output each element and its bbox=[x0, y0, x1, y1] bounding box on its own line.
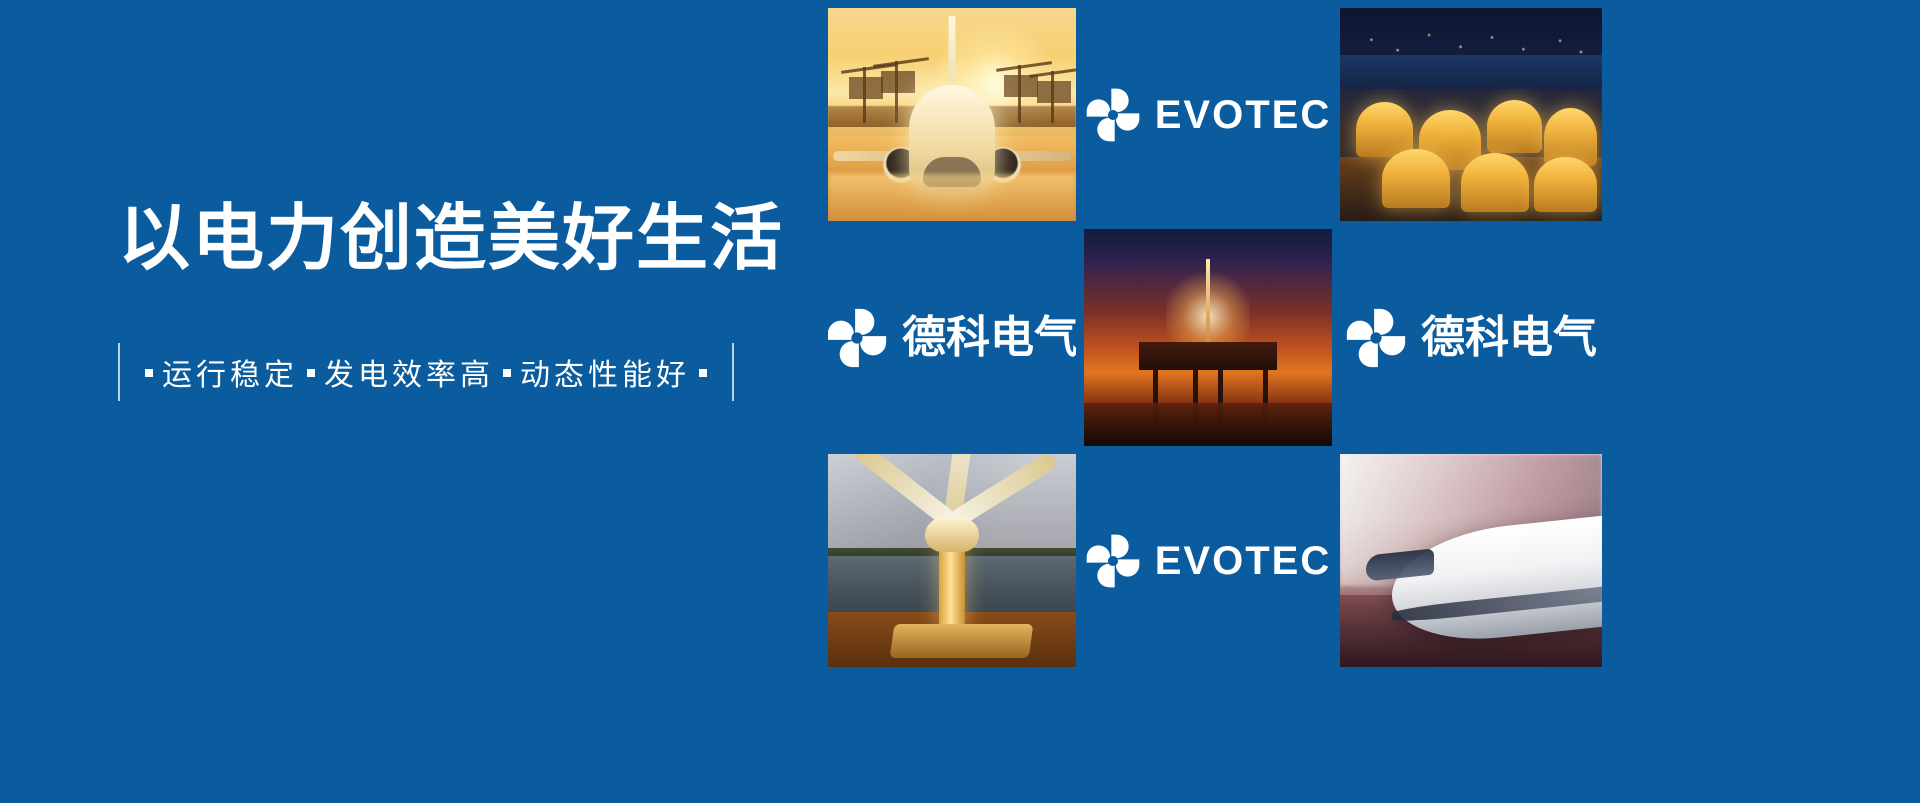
tile-oil-tanks bbox=[1340, 8, 1602, 221]
tile-oil-rig bbox=[1084, 229, 1332, 446]
pinwheel-logo-mark-icon bbox=[1345, 307, 1407, 369]
airport-cargo-port-sunset-photo bbox=[828, 8, 1076, 221]
subtitle-item-2: 发电效率高 bbox=[324, 350, 494, 394]
deke-logo-lockup: 德科电气 bbox=[1345, 307, 1597, 369]
pinwheel-logo-mark-icon bbox=[828, 307, 888, 369]
bullet-dot-icon bbox=[699, 369, 707, 377]
bullet-dot-icon bbox=[145, 369, 153, 377]
tile-logo-en-top: EVOTEC bbox=[1084, 8, 1332, 221]
pinwheel-logo-mark-icon bbox=[1085, 533, 1141, 589]
tile-train bbox=[1340, 454, 1602, 667]
evotec-logo-lockup: EVOTEC bbox=[1085, 87, 1331, 143]
high-speed-train-photo bbox=[1340, 454, 1602, 667]
deke-logo-lockup: 德科电气 bbox=[828, 307, 1076, 369]
evotec-wordmark: EVOTEC bbox=[1155, 541, 1331, 581]
deke-wordmark: 德科电气 bbox=[902, 316, 1076, 360]
evotec-wordmark: EVOTEC bbox=[1155, 95, 1331, 135]
evotec-logo-lockup: EVOTEC bbox=[1085, 533, 1331, 589]
page-title: 以电力创造美好生活 bbox=[118, 196, 778, 281]
subtitle-item-3: 动态性能好 bbox=[520, 350, 690, 394]
hero-subtitle: 运行稳定 发电效率高 动态性能好 bbox=[118, 343, 778, 401]
tile-turbine bbox=[828, 454, 1076, 667]
bullet-dot-icon bbox=[503, 369, 511, 377]
deke-wordmark: 德科电气 bbox=[1421, 316, 1597, 360]
subtitle-text: 运行稳定 发电效率高 动态性能好 bbox=[120, 350, 732, 394]
oil-tank-farm-night-photo bbox=[1340, 8, 1602, 221]
subtitle-item-1: 运行稳定 bbox=[162, 350, 298, 394]
tile-airport bbox=[828, 8, 1076, 221]
tile-logo-en-bottom: EVOTEC bbox=[1084, 454, 1332, 667]
pinwheel-logo-mark-icon bbox=[1085, 87, 1141, 143]
image-logo-mosaic: EVOTEC bbox=[828, 3, 1920, 803]
tidal-turbine-dusk-photo bbox=[828, 454, 1076, 667]
promo-banner: 以电力创造美好生活 运行稳定 发电效率高 动态性能好 bbox=[0, 0, 1920, 800]
tile-logo-cn-left: 德科电气 bbox=[828, 229, 1076, 446]
offshore-oil-rig-sunset-photo bbox=[1084, 229, 1332, 446]
subtitle-rule-right bbox=[732, 343, 734, 401]
hero-copy: 以电力创造美好生活 运行稳定 发电效率高 动态性能好 bbox=[118, 196, 778, 401]
bullet-dot-icon bbox=[307, 369, 315, 377]
tile-logo-cn-right: 德科电气 bbox=[1340, 229, 1602, 446]
